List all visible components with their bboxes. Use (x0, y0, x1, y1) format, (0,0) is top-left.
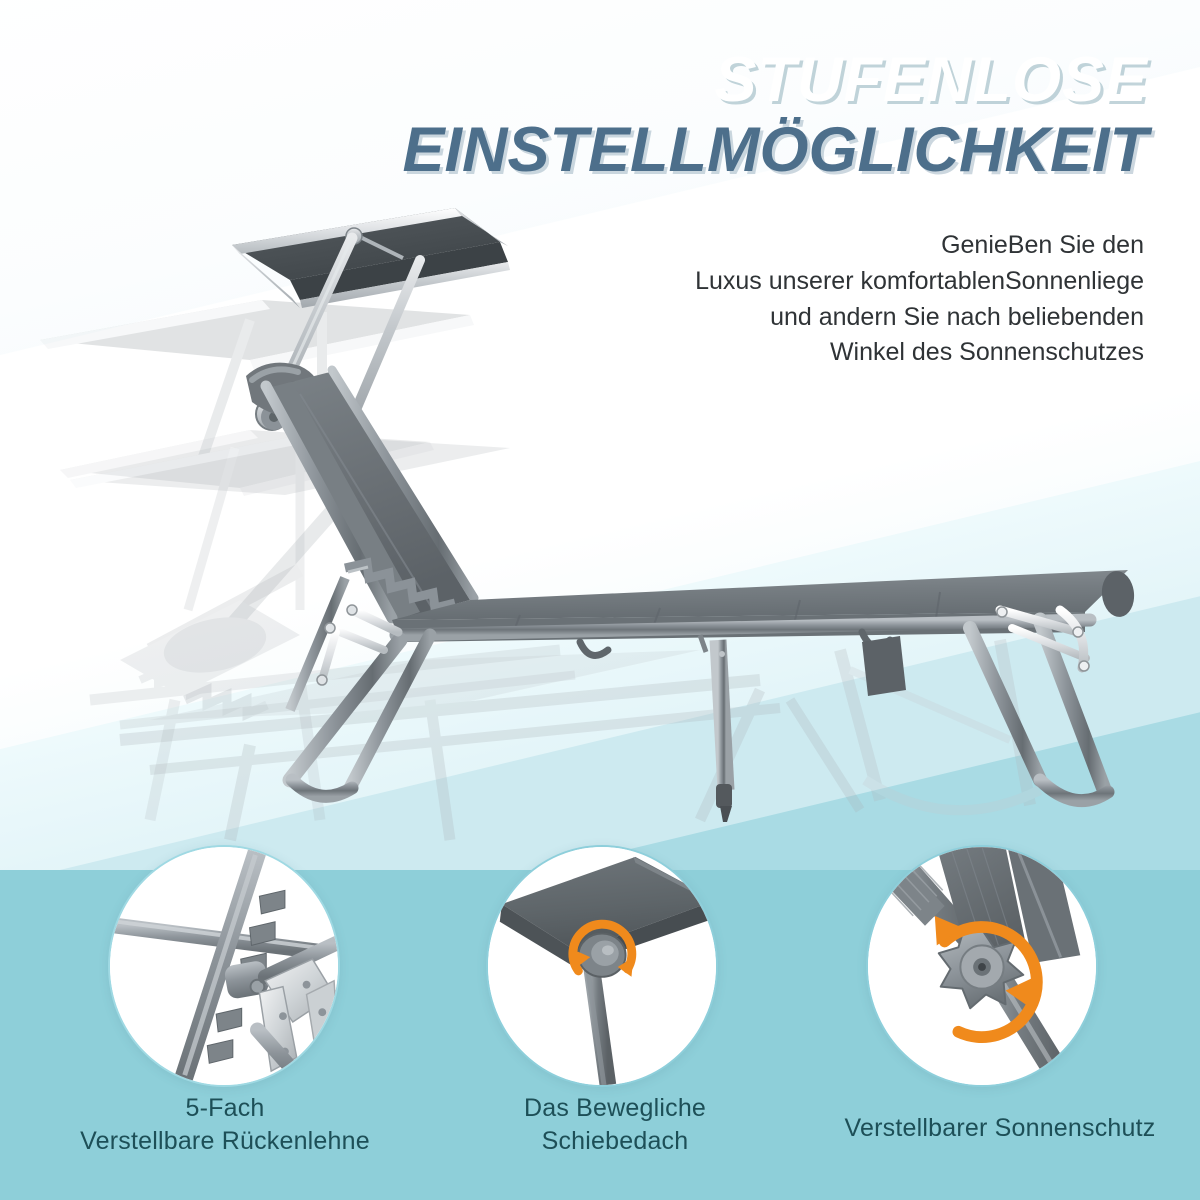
caption-sliding-roof: Das Bewegliche Schiebedach (430, 1092, 800, 1157)
center-support-leg (716, 640, 732, 822)
caption-backrest-line-1: 5-Fach (40, 1092, 410, 1125)
headline-block: STUFENLOSE EINSTELLMÖGLICHKEIT (403, 48, 1148, 184)
caption-sunshade-line-1: Verstellbarer Sonnenschutz (800, 1112, 1200, 1145)
canopy-assembly (232, 208, 510, 308)
subcopy-line-3: und andern Sie nach beliebenden (695, 300, 1144, 336)
subcopy-block: GenieBen Sie den Luxus unserer komfortab… (695, 228, 1144, 371)
caption-sunshade: Verstellbarer Sonnenschutz (800, 1112, 1200, 1145)
canopy-hinge-knob-icon (488, 847, 716, 1085)
feature-circle-backrest[interactable] (108, 845, 340, 1087)
subcopy-line-1: GenieBen Sie den (695, 228, 1144, 264)
subcopy-line-2: Luxus unserer komfortablenSonnenliege (695, 264, 1144, 300)
notched-bracket-icon (110, 847, 338, 1085)
caption-backrest-line-2: Verstellbare Rückenlehne (40, 1125, 410, 1158)
caption-sliding-roof-line-2: Schiebedach (430, 1125, 800, 1158)
feature-circles (0, 840, 1200, 1090)
rear-leg-assembly (970, 607, 1108, 801)
caption-sliding-roof-line-1: Das Bewegliche (430, 1092, 800, 1125)
subcopy-line-4: Winkel des Sonnenschutzes (695, 335, 1144, 371)
poster-canvas: STUFENLOSE EINSTELLMÖGLICHKEIT GenieBen … (0, 0, 1200, 1200)
feature-circle-sunshade[interactable] (866, 845, 1098, 1087)
caption-backrest: 5-Fach Verstellbare Rückenlehne (40, 1092, 410, 1157)
headline-line-1: STUFENLOSE (403, 48, 1148, 112)
star-knob-icon (868, 847, 1096, 1085)
under-seat-strap (862, 636, 906, 696)
headline-line-2: EINSTELLMÖGLICHKEIT (403, 116, 1148, 184)
feature-circle-sliding-roof[interactable] (486, 845, 718, 1087)
